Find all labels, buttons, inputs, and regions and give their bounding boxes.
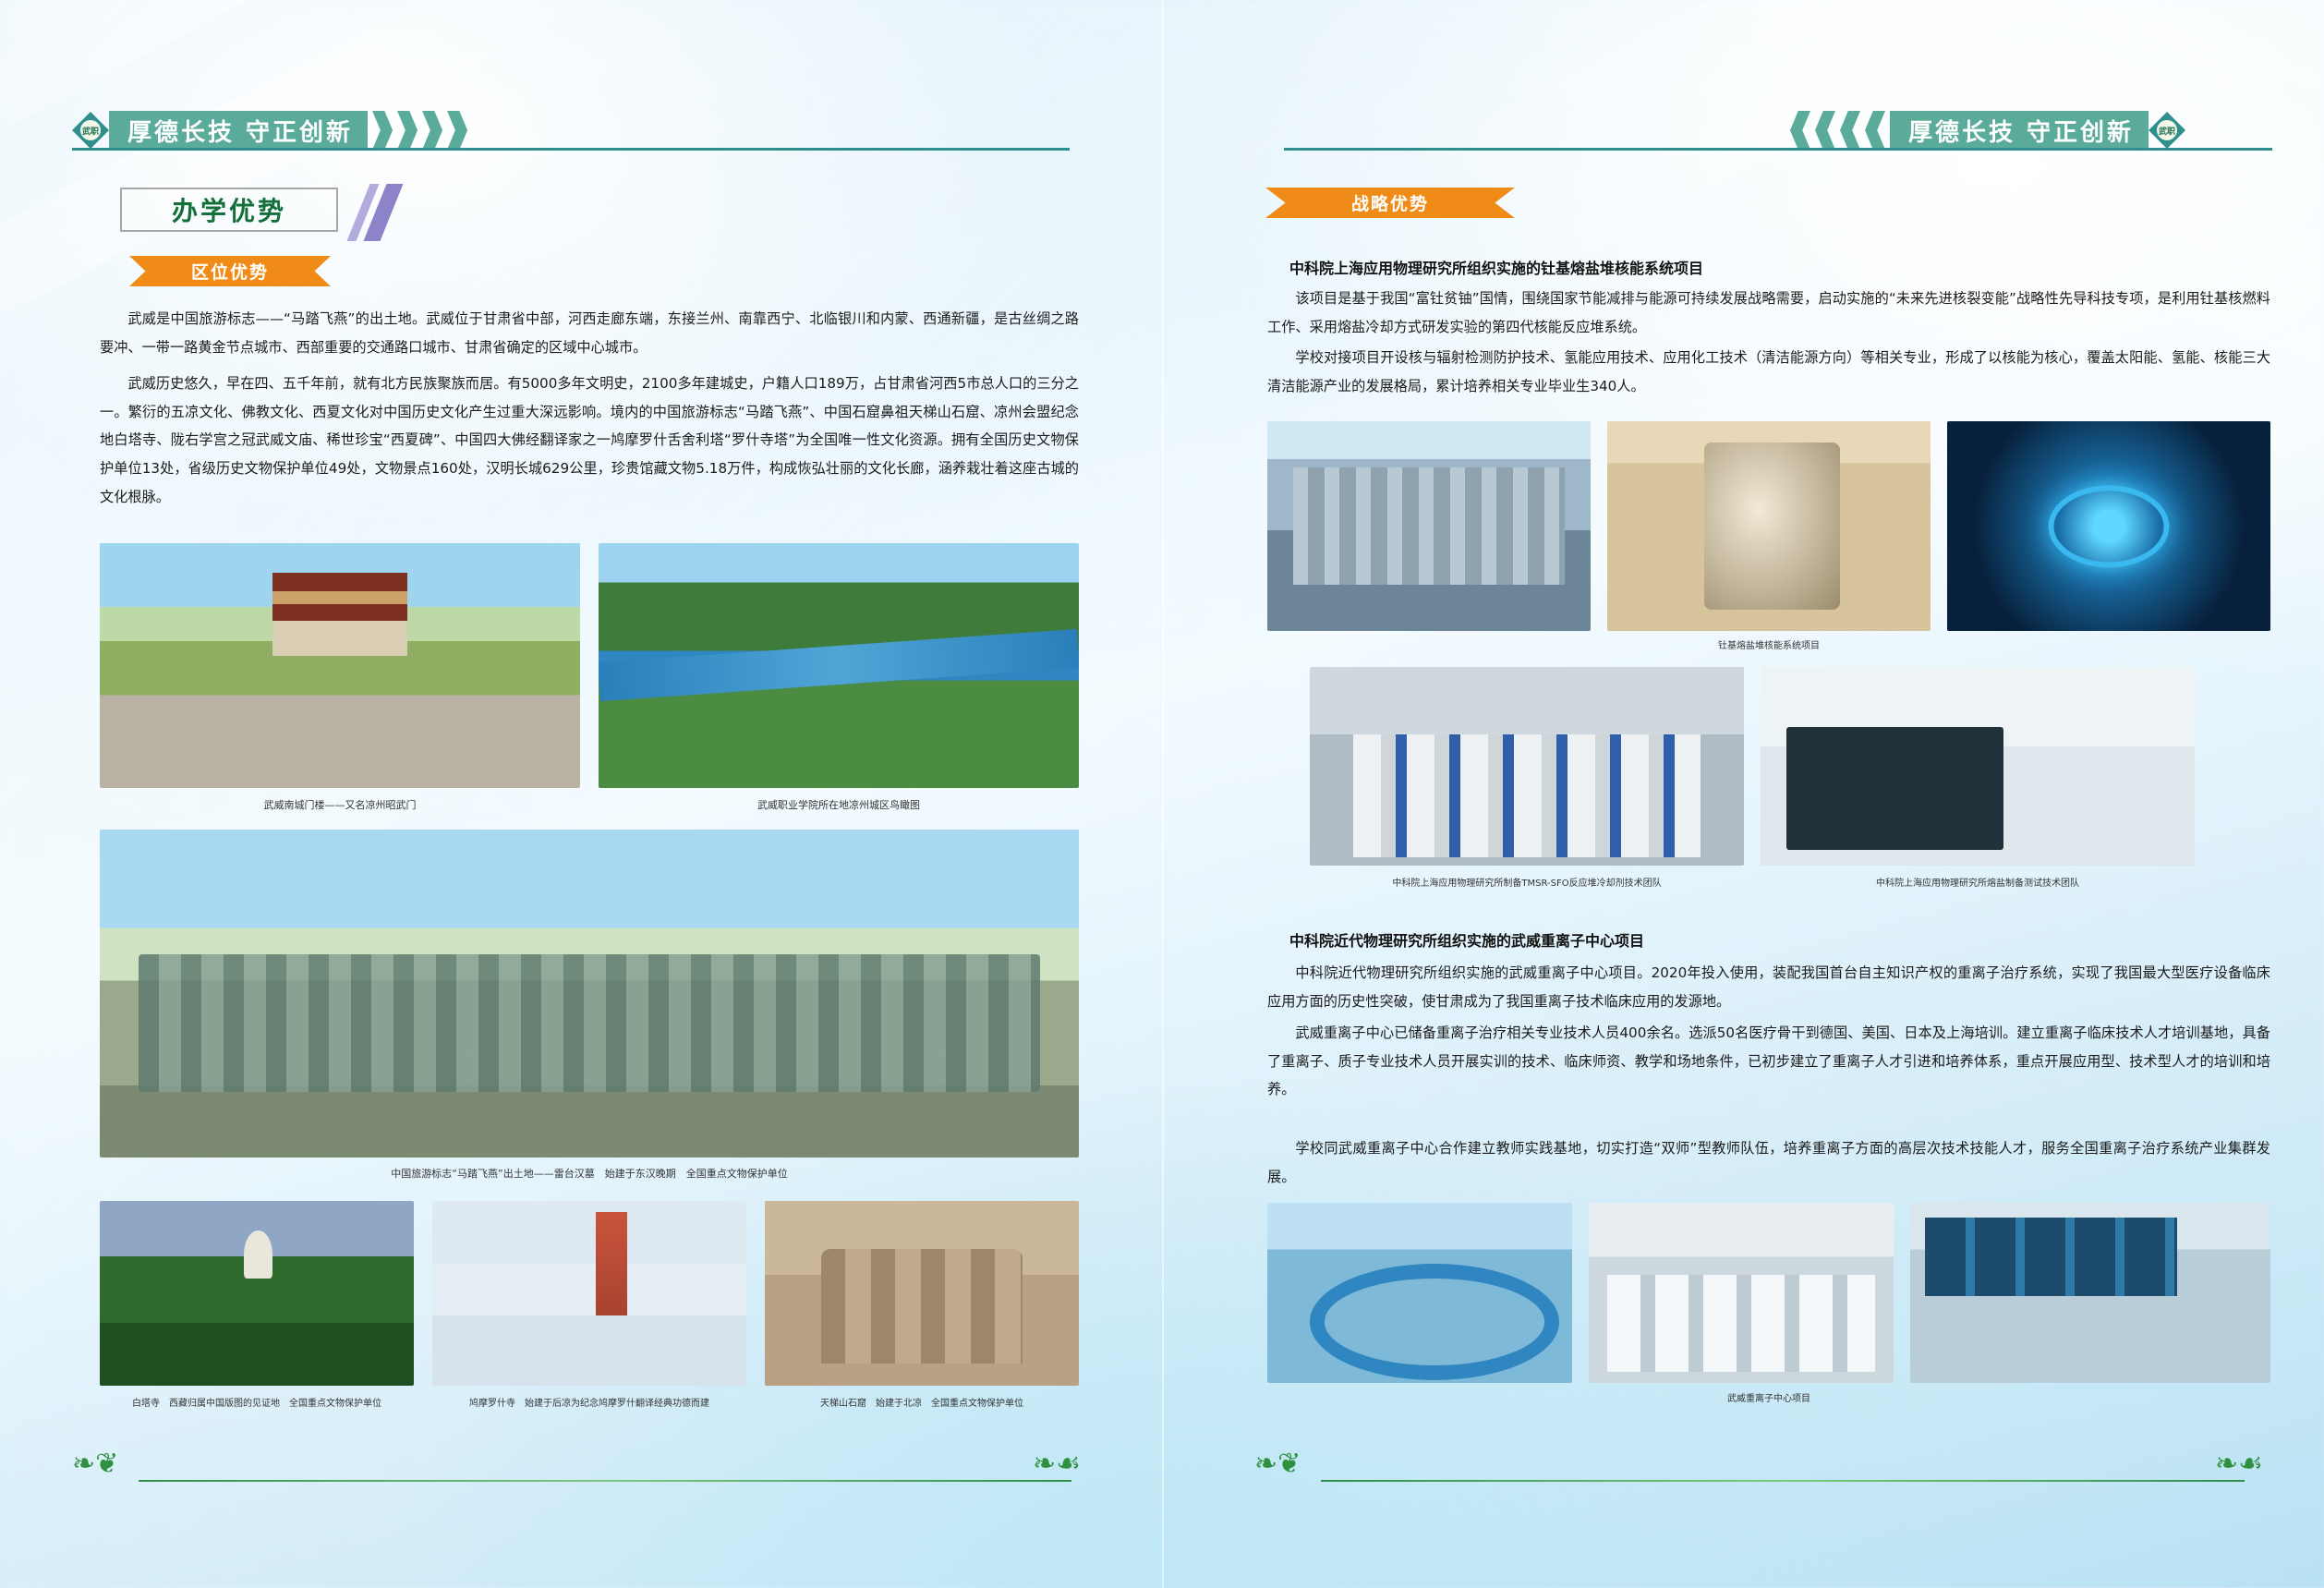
left-bottom-rule	[139, 1480, 1071, 1482]
brochure-spread: 武职 厚德长技 守正创新 厚德长技 守正创新 武职	[0, 0, 2324, 1588]
left-paragraph-1: 武威是中国旅游标志——“马踏飞燕”的出土地。武威位于甘肃省中部，河西走廊东端，东…	[100, 305, 1079, 361]
right-section1-paragraph-2: 学校对接项目开设核与辐射检测防护技术、氢能应用技术、应用化工技术（清洁能源方向）…	[1267, 344, 2270, 400]
left-ribbon-text: 区位优势	[191, 259, 269, 284]
chevron-right-icon	[397, 111, 418, 150]
left-paragraph-1-text: 武威是中国旅游标志——“马踏飞燕”的出土地。武威位于甘肃省中部，河西走廊东端，东…	[100, 305, 1079, 361]
left-big-title: 办学优势	[120, 188, 338, 232]
molten-salt-vessel-photo	[1607, 421, 1931, 631]
molten-salt-test-team-photo	[1761, 667, 2195, 866]
chevron-left-icon	[1865, 111, 1885, 150]
right-ribbon-text: 战略优势	[1351, 190, 1429, 215]
msr-facility-photo	[1267, 421, 1591, 631]
right-section2-paragraph-1: 中科院近代物理研究所组织实施的武威重离子中心项目。2020年投入使用，装配我国首…	[1267, 959, 2270, 1015]
tmsr-coolant-team-photo	[1310, 667, 1744, 866]
left-motto-text: 厚德长技 守正创新	[127, 114, 353, 148]
liangzhou-aerial-caption: 武威职业学院所在地凉州城区鸟瞰图	[599, 797, 1079, 812]
right-bottom-rule	[1321, 1480, 2245, 1482]
left-header-rule	[72, 148, 1070, 151]
msr-project-caption: 钍基熔盐堆核能系统项目	[1267, 637, 2270, 651]
chevron-left-icon	[1815, 111, 1835, 150]
right-section1-paragraph-1-text: 该项目是基于我国“富钍贫铀”国情，围绕国家节能减排与能源可持续发展战略需要，启动…	[1267, 285, 2270, 341]
bronze-galloping-horse-photo	[100, 830, 1079, 1158]
page-spine	[1162, 0, 1164, 1588]
right-motto-bar: 厚德长技 守正创新	[1890, 111, 2148, 150]
heavy-ion-center-caption: 武威重离子中心项目	[1267, 1390, 2270, 1404]
crest-inner: 武职	[79, 118, 103, 142]
heavy-ion-accelerator-photo	[1267, 1203, 1572, 1383]
right-section2-heading: 中科院近代物理研究所组织实施的武威重离子中心项目	[1289, 928, 2269, 951]
chevron-left-icon	[1790, 111, 1810, 150]
right-section1-heading: 中科院上海应用物理研究所组织实施的钍基熔盐堆核能系统项目	[1289, 256, 2269, 278]
baita-temple-caption: 白塔寺 西藏归属中国版图的见证地 全国重点文物保护单位	[91, 1395, 423, 1409]
right-chevron-group	[1790, 111, 1890, 150]
tiantishan-grottoes-caption: 天梯山石窟 始建于北凉 全国重点文物保护单位	[756, 1395, 1088, 1409]
right-ribbon-strategic-advantage: 战略优势	[1265, 188, 1515, 218]
right-section2-paragraph-2: 武威重离子中心已储备重离子治疗相关专业技术人员400余名。选派50名医疗骨干到德…	[1267, 1019, 2270, 1104]
wuwei-south-gate-photo	[100, 543, 580, 788]
bg-streak	[0, 0, 631, 187]
right-header-rule	[1284, 148, 2272, 151]
chevron-right-icon	[447, 111, 467, 150]
right-motto-text: 厚德长技 守正创新	[1908, 114, 2134, 148]
crest-inner: 武职	[2155, 118, 2179, 142]
left-page-header: 武职 厚德长技 守正创新	[72, 111, 467, 150]
luoshi-temple-photo	[432, 1201, 746, 1386]
chevron-left-icon	[1840, 111, 1860, 150]
left-chevron-group	[368, 111, 467, 150]
control-room-photo	[1910, 1203, 2270, 1383]
baita-temple-photo	[100, 1201, 414, 1386]
left-big-title-text: 办学优势	[172, 191, 286, 228]
school-crest-icon: 武职	[72, 112, 109, 149]
right-section2-paragraph-3-text: 学校同武威重离子中心合作建立教师实践基地，切实打造“双师”型教师队伍，培养重离子…	[1267, 1134, 2270, 1191]
right-section2-paragraph-3: 学校同武威重离子中心合作建立教师实践基地，切实打造“双师”型教师队伍，培养重离子…	[1267, 1134, 2270, 1191]
training-classroom-photo	[1589, 1203, 1894, 1383]
school-crest-icon: 武职	[2148, 112, 2185, 149]
left-motto-bar: 厚德长技 守正创新	[109, 111, 368, 150]
left-paragraph-2: 武威历史悠久，早在四、五千年前，就有北方民族聚族而居。有5000多年文明史，21…	[100, 370, 1079, 512]
right-section2-paragraph-1-text: 中科院近代物理研究所组织实施的武威重离子中心项目。2020年投入使用，装配我国首…	[1267, 959, 2270, 1015]
right-page-header: 厚德长技 守正创新 武职	[1790, 111, 2185, 150]
right-section1-paragraph-1: 该项目是基于我国“富钍贫铀”国情，围绕国家节能减排与能源可持续发展战略需要，启动…	[1267, 285, 2270, 341]
right-section1-paragraph-2-text: 学校对接项目开设核与辐射检测防护技术、氢能应用技术、应用化工技术（清洁能源方向）…	[1267, 344, 2270, 400]
right-section2-paragraph-2-text: 武威重离子中心已储备重离子治疗相关专业技术人员400余名。选派50名医疗骨干到德…	[1267, 1019, 2270, 1104]
tiantishan-grottoes-photo	[765, 1201, 1079, 1386]
tmsr-coolant-team-caption: 中科院上海应用物理研究所制备TMSR-SFO反应堆冷却剂技术团队	[1310, 875, 1744, 889]
left-paragraph-2-text: 武威历史悠久，早在四、五千年前，就有北方民族聚族而居。有5000多年文明史，21…	[100, 370, 1079, 512]
chevron-right-icon	[422, 111, 442, 150]
chevron-right-icon	[372, 111, 393, 150]
vine-ornament-left-end: ❧☙	[1033, 1450, 1081, 1478]
reactor-core-photo	[1947, 421, 2270, 631]
wuwei-south-gate-caption: 武威南城门楼——又名凉州昭武门	[100, 797, 580, 812]
vine-ornament-right-end: ❧☙	[2215, 1450, 2263, 1478]
liangzhou-aerial-photo	[599, 543, 1079, 788]
left-big-title-box: 办学优势	[120, 188, 338, 232]
bronze-galloping-horse-caption: 中国旅游标志“马踏飞燕”出土地——雷台汉墓 始建于东汉晚期 全国重点文物保护单位	[100, 1166, 1079, 1181]
left-ribbon-location-advantage: 区位优势	[129, 256, 331, 286]
molten-salt-test-team-caption: 中科院上海应用物理研究所熔盐制备测试技术团队	[1761, 875, 2195, 889]
vine-ornament-right: ❧❦	[1254, 1450, 1301, 1478]
luoshi-temple-caption: 鸠摩罗什寺 始建于后凉为纪念鸠摩罗什翻译经典功德而建	[423, 1395, 756, 1409]
vine-ornament-left: ❧❦	[72, 1450, 118, 1478]
